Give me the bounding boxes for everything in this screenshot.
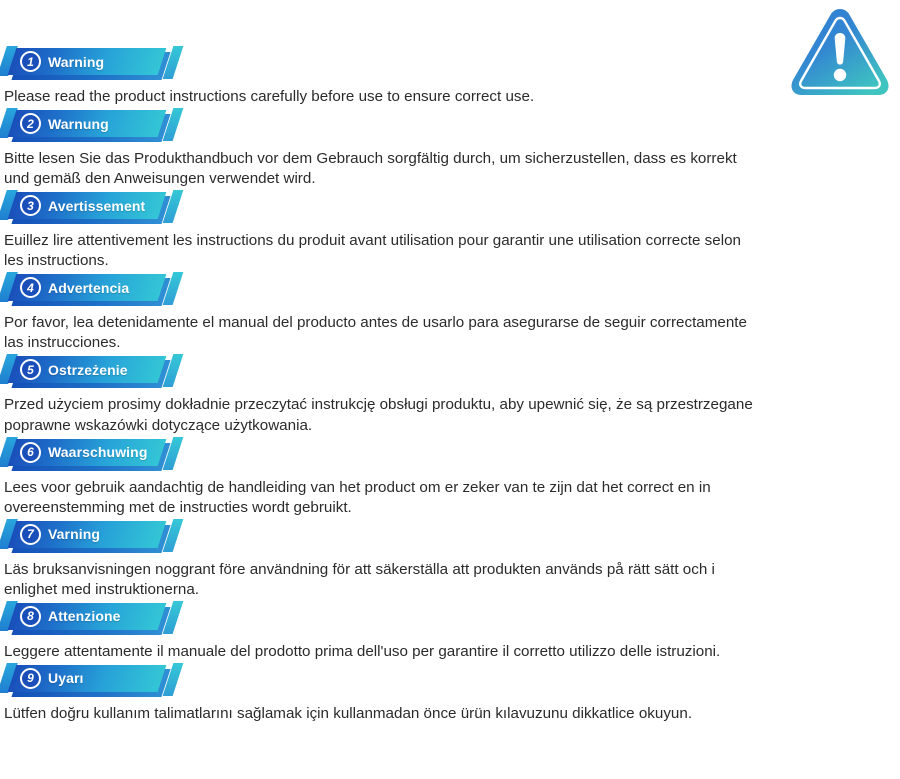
warning-section-polish: 5 Ostrzeżenie Przed użyciem prosimy dokł… — [0, 353, 790, 435]
section-body-text: Bitte lesen Sie das Produkthandbuch vor … — [0, 147, 760, 189]
warning-banner: 5 Ostrzeżenie — [0, 353, 200, 393]
warning-banner: 4 Advertencia — [0, 271, 200, 311]
banner-content: 3 Avertissement — [12, 192, 145, 219]
warning-banner: 9 Uyarı — [0, 662, 200, 702]
section-label: Varning — [48, 526, 100, 542]
warning-instructions-page: 1 Warning Please read the product instru… — [0, 0, 900, 779]
section-number-badge: 8 — [20, 606, 41, 627]
section-body-text: Läs bruksanvisningen noggrant före använ… — [0, 558, 760, 600]
section-body-text: Por favor, lea detenidamente el manual d… — [0, 311, 760, 353]
section-number-badge: 4 — [20, 277, 41, 298]
banner-content: 1 Warning — [12, 48, 104, 75]
section-number-badge: 5 — [20, 359, 41, 380]
section-body-text: Euillez lire attentivement les instructi… — [0, 229, 760, 271]
warning-banner: 1 Warning — [0, 45, 200, 85]
warning-section-english: 1 Warning Please read the product instru… — [0, 45, 790, 107]
banner-content: 7 Varning — [12, 521, 100, 548]
banner-content: 8 Attenzione — [12, 603, 121, 630]
section-number-badge: 1 — [20, 51, 41, 72]
warning-section-spanish: 4 Advertencia Por favor, lea detenidamen… — [0, 271, 790, 353]
section-label: Uyarı — [48, 670, 84, 686]
warning-section-turkish: 9 Uyarı Lütfen doğru kullanım talimatlar… — [0, 662, 790, 724]
section-number-badge: 2 — [20, 113, 41, 134]
banner-content: 9 Uyarı — [12, 665, 84, 692]
warning-banner: 2 Warnung — [0, 107, 200, 147]
section-body-text: Leggere attentamente il manuale del prod… — [0, 640, 760, 662]
banner-content: 5 Ostrzeżenie — [12, 356, 128, 383]
section-label: Advertencia — [48, 280, 129, 296]
warning-section-dutch: 6 Waarschuwing Lees voor gebruik aandach… — [0, 436, 790, 518]
section-label: Warning — [48, 54, 104, 70]
section-label: Avertissement — [48, 198, 145, 214]
warning-banner: 3 Avertissement — [0, 189, 200, 229]
banner-content: 4 Advertencia — [12, 274, 129, 301]
warning-sections-list: 1 Warning Please read the product instru… — [0, 45, 790, 724]
section-body-text: Przed użyciem prosimy dokładnie przeczyt… — [0, 393, 760, 435]
section-label: Warnung — [48, 116, 109, 132]
warning-banner: 8 Attenzione — [0, 600, 200, 640]
section-label: Attenzione — [48, 608, 121, 624]
section-body-text: Please read the product instructions car… — [0, 85, 760, 107]
warning-banner: 6 Waarschuwing — [0, 436, 200, 476]
warning-banner: 7 Varning — [0, 518, 200, 558]
section-number-badge: 9 — [20, 668, 41, 689]
banner-content: 6 Waarschuwing — [12, 439, 147, 466]
section-number-badge: 7 — [20, 524, 41, 545]
section-body-text: Lütfen doğru kullanım talimatlarını sağl… — [0, 702, 760, 724]
warning-section-italian: 8 Attenzione Leggere attentamente il man… — [0, 600, 790, 662]
warning-section-german: 2 Warnung Bitte lesen Sie das Produkthan… — [0, 107, 790, 189]
section-number-badge: 3 — [20, 195, 41, 216]
section-label: Waarschuwing — [48, 444, 147, 460]
section-number-badge: 6 — [20, 442, 41, 463]
warning-section-swedish: 7 Varning Läs bruksanvisningen noggrant … — [0, 518, 790, 600]
warning-section-french: 3 Avertissement Euillez lire attentiveme… — [0, 189, 790, 271]
section-body-text: Lees voor gebruik aandachtig de handleid… — [0, 476, 760, 518]
banner-content: 2 Warnung — [12, 110, 109, 137]
warning-triangle-icon — [788, 4, 892, 100]
section-label: Ostrzeżenie — [48, 362, 128, 378]
